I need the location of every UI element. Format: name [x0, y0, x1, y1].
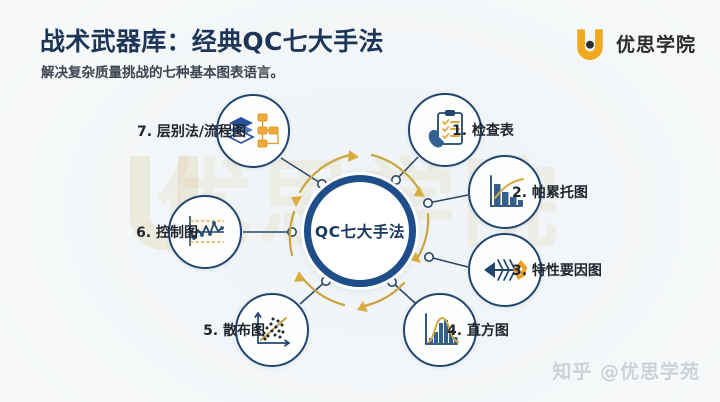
hub-circle: QC七大手法: [304, 175, 416, 287]
node-stratify-label: 7. 层别法/流程图: [137, 121, 246, 141]
node-scatter-label: 5. 散布图: [203, 320, 265, 340]
node-checksheet-label: 1. 检查表: [452, 120, 514, 140]
slide-canvas: 优思学院 战术武器库：经典QC七大手法 解决复杂质量挑战的七种基本图表语言。 优…: [0, 0, 720, 402]
node-scatter[interactable]: 5. 散布图: [235, 293, 309, 367]
zhihu-watermark: 知乎 @优思学苑: [552, 357, 700, 384]
node-fishbone-label: 3. 特性要因图: [512, 260, 602, 280]
node-controlchart-label: 6. 控制图: [136, 222, 198, 242]
node-controlchart[interactable]: 6. 控制图: [168, 195, 242, 269]
hub-label: QC七大手法: [315, 220, 405, 242]
node-histogram-label: 4. 直方图: [447, 320, 509, 340]
node-pareto-label: 2. 帕累托图: [512, 182, 588, 202]
node-stratify[interactable]: 7. 层别法/流程图: [216, 94, 290, 168]
node-fishbone[interactable]: ? 3. 特性要因图: [468, 233, 542, 307]
node-pareto[interactable]: 2. 帕累托图: [468, 155, 542, 229]
node-histogram[interactable]: 4. 直方图: [403, 293, 477, 367]
